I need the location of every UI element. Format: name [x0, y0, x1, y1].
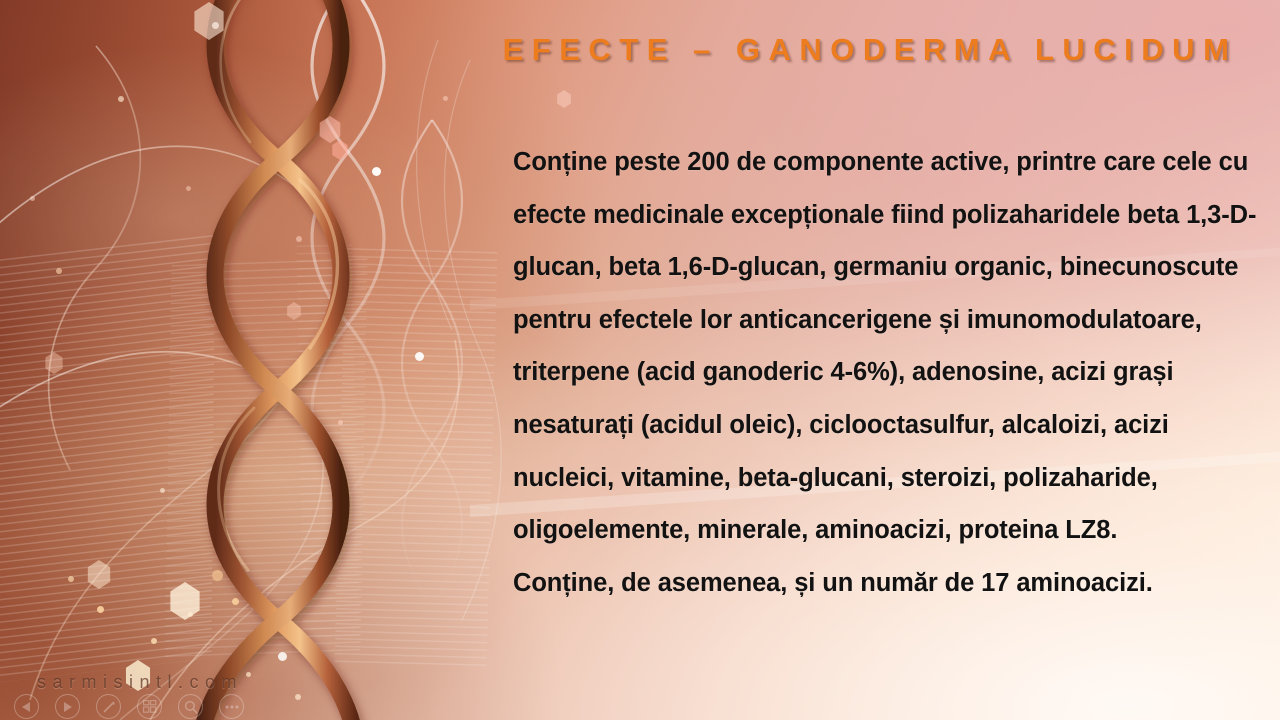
ellipsis-icon [225, 705, 239, 709]
slide-body-text: Conține peste 200 de componente active, … [513, 136, 1265, 609]
body-paragraph-1: Conține peste 200 de componente active, … [513, 136, 1265, 557]
grid-icon [143, 700, 157, 713]
zoom-slide-button[interactable] [178, 694, 203, 719]
slide-overview-button[interactable] [137, 694, 162, 719]
presentation-control-bar[interactable] [14, 694, 244, 719]
body-paragraph-2: Conține, de asemenea, și un număr de 17 … [513, 557, 1265, 610]
presentation-slide: EFECTE – GANODERMA LUCIDUM Conține peste… [0, 0, 1280, 720]
triangle-left-icon [22, 702, 31, 712]
triangle-right-icon [63, 702, 72, 712]
site-watermark: sarmisintl.com [37, 672, 243, 693]
bokeh-dot [68, 576, 74, 582]
bokeh-dot [118, 96, 124, 102]
hexagon-particle [86, 560, 112, 589]
bokeh-dot [30, 196, 35, 201]
dna-double-helix-graphic [150, 0, 410, 720]
more-options-button[interactable] [219, 694, 244, 719]
bokeh-dot [56, 268, 62, 274]
bokeh-dot [415, 352, 424, 361]
previous-slide-button[interactable] [14, 694, 39, 719]
hexagon-particle [556, 90, 572, 108]
next-slide-button[interactable] [55, 694, 80, 719]
pen-icon [102, 700, 116, 714]
magnifier-icon [184, 700, 198, 714]
hexagon-particle [44, 352, 64, 374]
dna-helix-icon [150, 0, 410, 720]
bokeh-dot [97, 606, 104, 613]
bokeh-dot [443, 96, 448, 101]
slide-title: EFECTE – GANODERMA LUCIDUM [470, 27, 1270, 73]
pen-tool-button[interactable] [96, 694, 121, 719]
